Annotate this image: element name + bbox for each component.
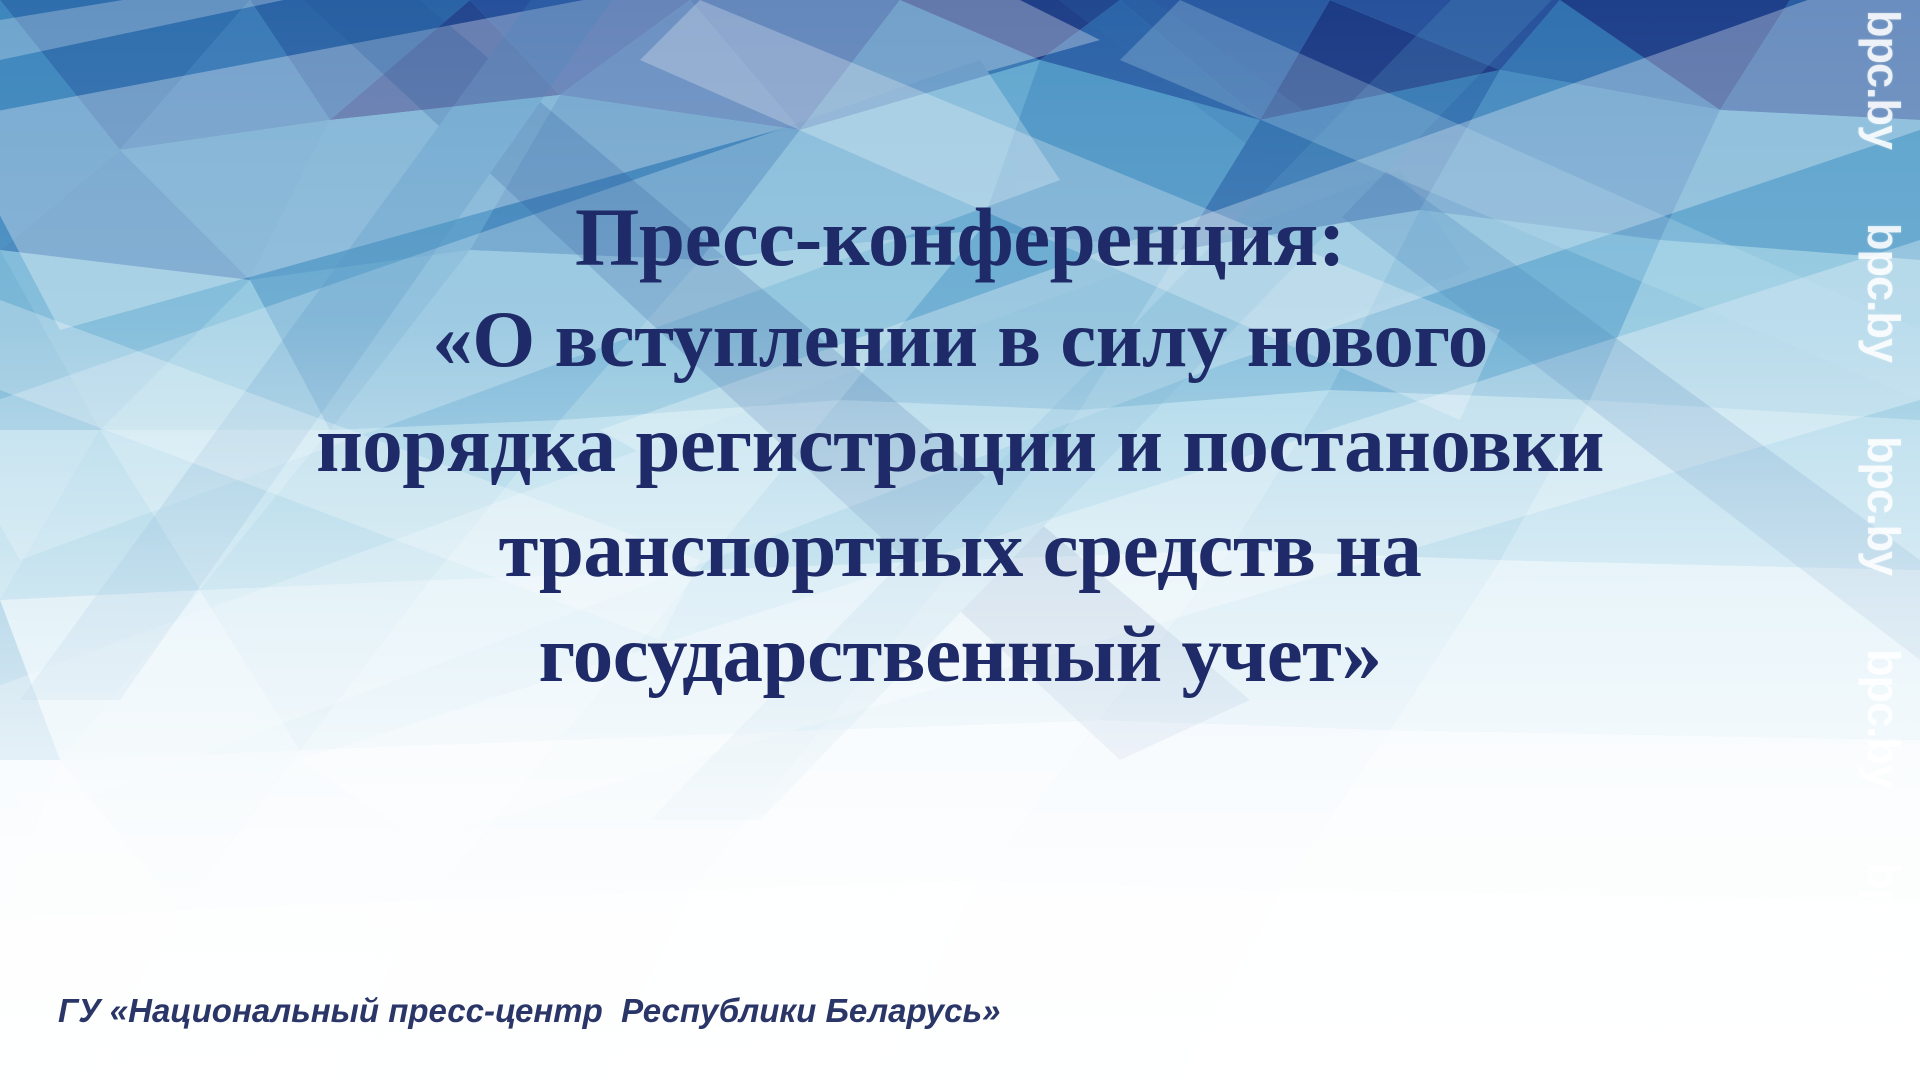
title-line-5: государственный учет» xyxy=(0,614,1920,695)
slide-title-block: Пресс-конференция: «О вступлении в силу … xyxy=(0,196,1920,695)
watermark-text: bpc.by xyxy=(1862,862,1907,1001)
page-title: Пресс-конференция: xyxy=(0,196,1920,279)
title-line-4: транспортных средств на xyxy=(0,509,1920,590)
presentation-slide: bpc.by bpc.by bpc.by bpc.by bpc.by bpc.b… xyxy=(0,0,1920,1080)
watermark-text: bpc.by xyxy=(1862,10,1907,149)
title-line-3: порядка регистрации и постановки xyxy=(0,404,1920,485)
watermark-text: bpc.by xyxy=(1862,1075,1907,1080)
footer-organization-caption: ГУ «Национальный пресс-центр Республики … xyxy=(58,992,1000,1030)
title-line-2: «О вступлении в силу нового xyxy=(0,299,1920,380)
